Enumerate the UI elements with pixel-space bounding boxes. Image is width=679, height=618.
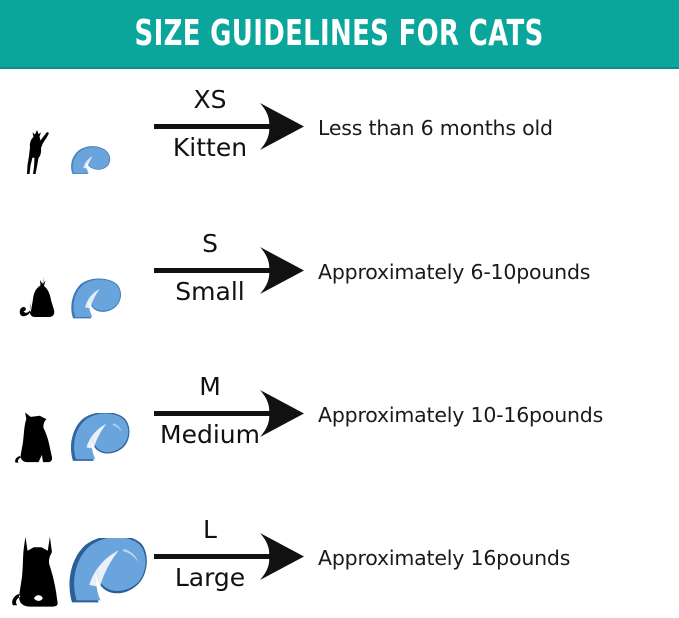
cat-standing-silhouette-icon: [23, 126, 53, 178]
size-guidelines-infographic: SIZE GUIDELINES FOR CATS XS Kitten: [0, 0, 679, 599]
arrow-cell: S Small: [152, 217, 312, 327]
size-description: Approximately 10-16pounds: [318, 403, 603, 427]
cat-sitting-large-silhouette-icon: [10, 534, 66, 608]
cat-sitting-small-silhouette-icon: [18, 272, 58, 322]
size-description: Approximately 16pounds: [318, 546, 570, 570]
description-cell: Less than 6 months old: [312, 116, 679, 140]
size-code-label: M: [130, 374, 290, 399]
nail-cap-m-icon: [68, 413, 132, 465]
arrow-cell: M Medium: [152, 360, 312, 470]
header-banner: SIZE GUIDELINES FOR CATS: [0, 0, 679, 67]
cat-silhouette-cell: [8, 365, 68, 465]
size-row: S Small Approximately 6-10pounds: [0, 212, 679, 332]
nail-cap-xs-icon: [68, 144, 114, 178]
page-title: SIZE GUIDELINES FOR CATS: [135, 16, 544, 52]
cat-silhouette-cell: [8, 508, 68, 608]
size-name-label: Large: [130, 565, 290, 590]
size-code-label: S: [130, 231, 290, 256]
size-name-label: Kitten: [130, 135, 290, 160]
cat-silhouette-cell: [8, 222, 68, 322]
size-name-label: Medium: [130, 422, 290, 447]
cat-silhouette-cell: [8, 78, 68, 178]
description-cell: Approximately 16pounds: [312, 546, 679, 570]
nail-cap-s-icon: [68, 278, 124, 322]
size-row: M Medium Approximately 10-16pounds: [0, 355, 679, 475]
description-cell: Approximately 10-16pounds: [312, 403, 679, 427]
size-row: XS Kitten Less than 6 months old: [0, 68, 679, 188]
size-description: Less than 6 months old: [318, 116, 553, 140]
arrow-cell: XS Kitten: [152, 73, 312, 183]
size-row: L Large Approximately 16pounds: [0, 498, 679, 618]
size-description: Approximately 6-10pounds: [318, 260, 590, 284]
size-code-label: L: [130, 517, 290, 542]
description-cell: Approximately 6-10pounds: [312, 260, 679, 284]
size-name-label: Small: [130, 279, 290, 304]
arrow-cell: L Large: [152, 503, 312, 613]
cat-sitting-medium-silhouette-icon: [14, 409, 62, 465]
size-code-label: XS: [130, 87, 290, 112]
